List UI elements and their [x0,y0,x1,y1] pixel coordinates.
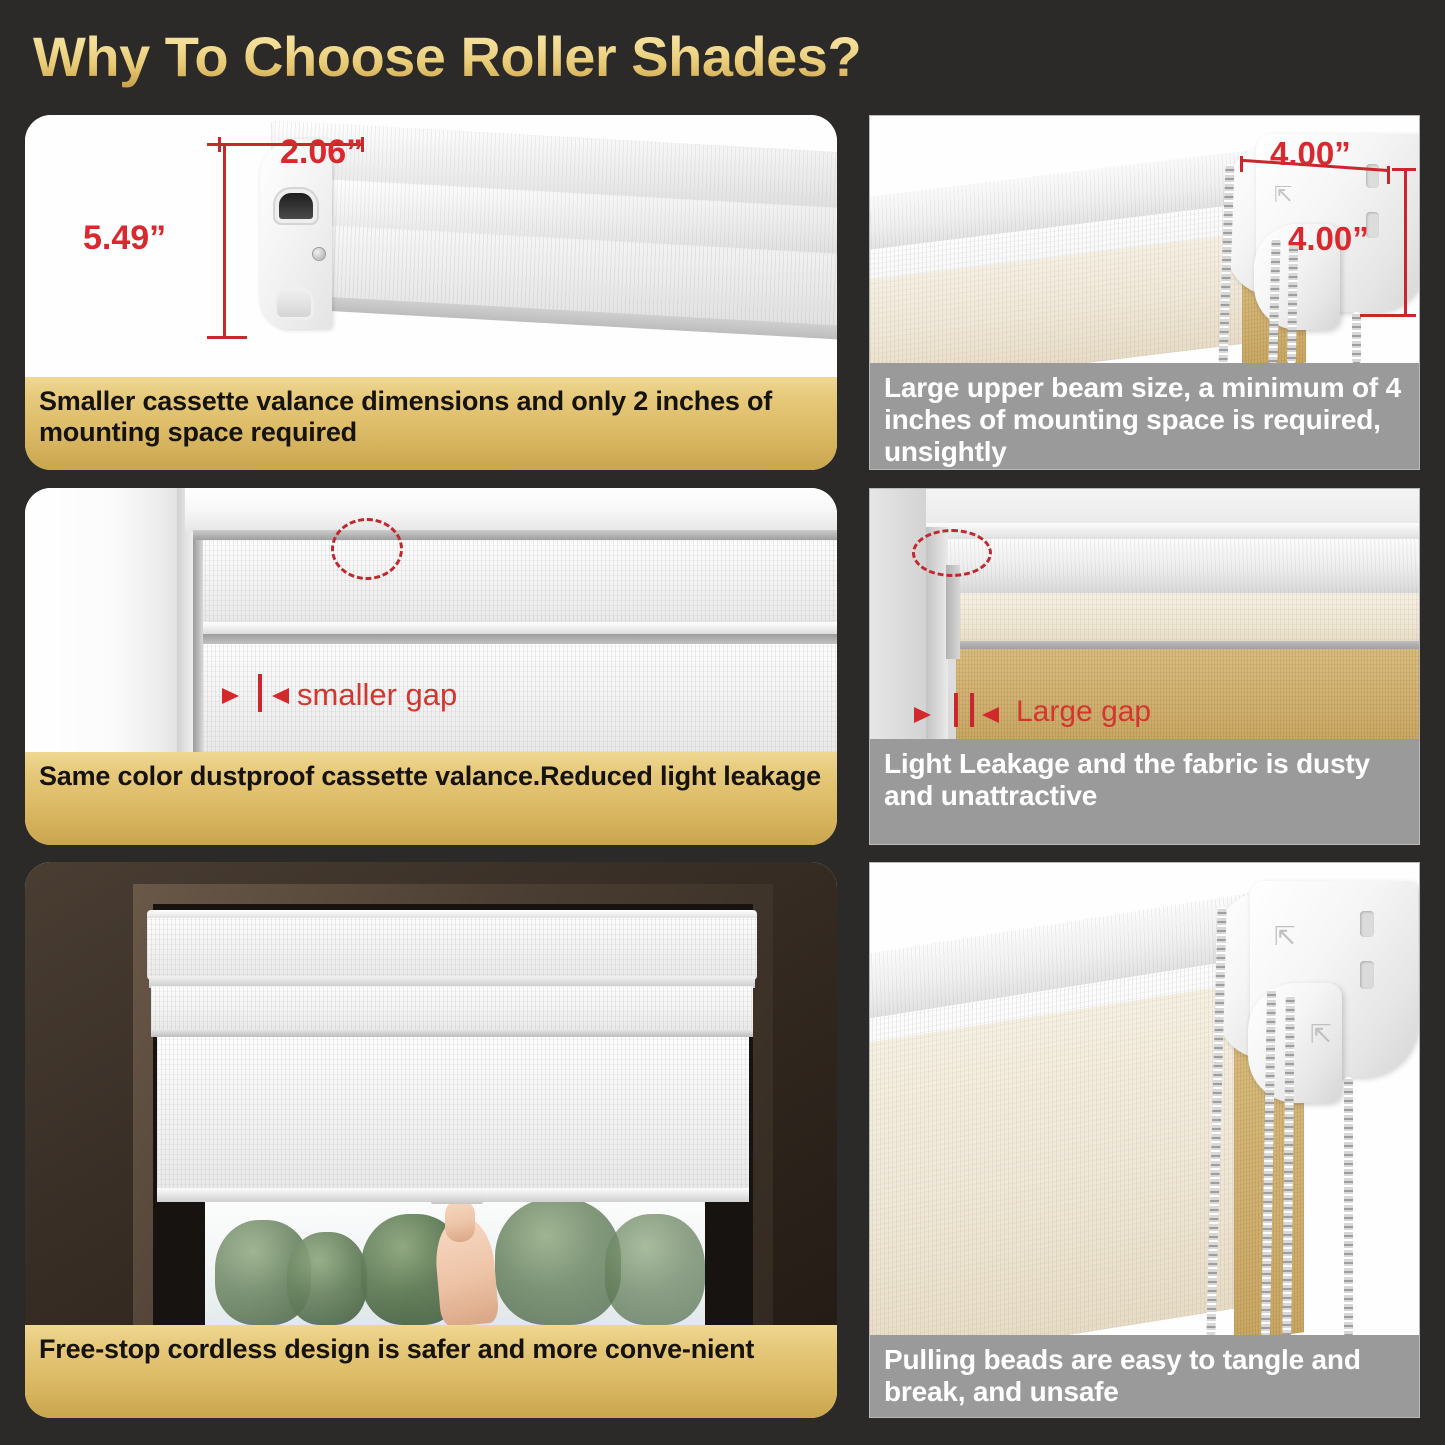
caption-text: Large upper beam size, a minimum of 4 in… [884,372,1405,468]
bracket-arrow-icon: ⇱ [1274,921,1296,952]
bead-chain [1352,312,1361,363]
cream-fabric [870,982,1250,1337]
finger [445,1200,475,1242]
pull-tab [431,1192,483,1204]
panel-pro-cordless-design: Free-stop cordless design is safer and m… [25,862,837,1418]
bracket-slot-icon [1360,911,1374,937]
beam-height-dimension-label: 4.00” [1288,220,1369,258]
gap-highlight-ellipse [912,529,992,577]
valance-knob-detail [277,287,311,317]
photo-cordless-window [25,862,837,1325]
gap-highlight-ellipse [331,518,403,580]
gap-callout-label: smaller gap [297,677,457,713]
panel-pro-valance-size: 2.06” 5.49” Smaller cassette valance dim… [25,115,837,470]
photo-light-leakage: Large gap [870,489,1419,741]
photo-cassette-valance: 2.06” 5.49” [25,115,837,377]
gap-arrow-right-icon [222,688,239,704]
photo-dustproof-valance: smaller gap [25,488,837,752]
gap-marker-line [258,674,262,712]
caption-text: Smaller cassette valance dimensions and … [39,386,823,448]
caption-text: Light Leakage and the fabric is dusty an… [884,748,1405,812]
window-casing-top [185,488,837,532]
caption-text: Pulling beads are easy to tangle and bre… [884,1344,1405,1408]
roller-tube [932,539,1419,601]
photo-pulling-beads: ⇱ ⇱ [870,863,1419,1337]
gap-arrow-left-icon [982,707,999,723]
caption-con-light-leakage: Light Leakage and the fabric is dusty an… [870,739,1419,844]
bead-chain [1344,1077,1353,1337]
valance-band [197,540,837,626]
panel-con-light-leakage: Large gap Light Leakage and the fabric i… [869,488,1420,845]
caption-con-pulling-beads: Pulling beads are easy to tangle and bre… [870,1335,1419,1417]
width-dimension-label: 2.06” [280,133,363,172]
valance-slot-detail [279,193,313,219]
photo-large-beam: ⇱ ⇱ 4.00” 4.00” [870,116,1419,363]
caption-con-beam-size: Large upper beam size, a minimum of 4 in… [870,363,1419,469]
window-casing-left [25,488,185,752]
panel-con-beam-size: ⇱ ⇱ 4.00” 4.00” Large upper beam size, a… [869,115,1420,470]
gap-arrow-right-icon [914,707,931,723]
gap-arrow-left-icon [272,688,289,704]
height-dimension-label: 5.49” [83,219,166,258]
bracket-arrow-icon: ⇱ [1310,1019,1332,1050]
bracket-slot-icon [1360,961,1374,989]
valance-screw-detail [313,248,325,260]
beam-width-dimension-label: 4.00” [1270,135,1351,173]
caption-pro-dustproof-valance: Same color dustproof cassette valance.Re… [25,752,837,845]
comparison-grid: 2.06” 5.49” Smaller cassette valance dim… [0,0,1445,1445]
wall-left [870,489,926,741]
gap-marker-line [970,693,974,727]
bracket-arrow-icon: ⇱ [1274,182,1292,208]
cassette-valance [147,914,757,980]
gap-marker-line [954,693,958,727]
beam-height-dimension-line [1404,168,1407,316]
panel-pro-dustproof-valance: smaller gap Same color dustproof cassett… [25,488,837,845]
caption-pro-cordless-design: Free-stop cordless design is safer and m… [25,1325,837,1418]
caption-text: Same color dustproof cassette valance.Re… [39,761,821,792]
height-dimension-line [223,143,226,339]
panel-con-pulling-beads: ⇱ ⇱ Pulling beads are easy to tangle and… [869,862,1420,1418]
caption-pro-valance-size: Smaller cassette valance dimensions and … [25,377,837,470]
gap-callout-label: Large gap [1016,695,1151,729]
caption-text: Free-stop cordless design is safer and m… [39,1334,754,1365]
shade-fabric [157,1037,749,1195]
